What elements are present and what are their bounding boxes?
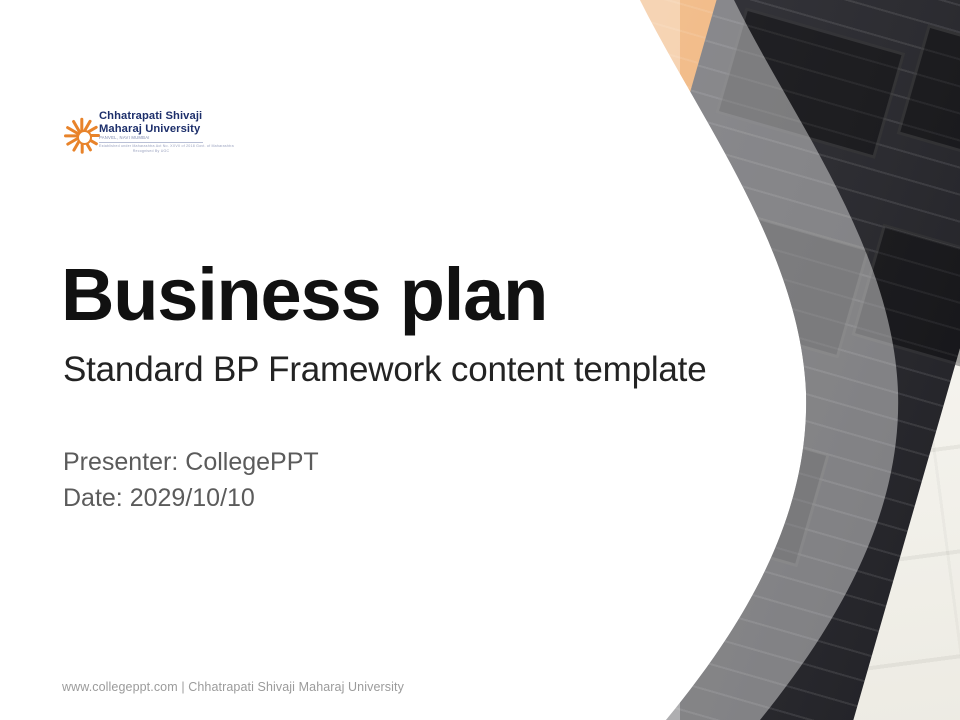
logo-line-1: Chhatrapati Shivaji bbox=[99, 110, 207, 123]
slide-meta: Presenter: CollegePPT Date: 2029/10/10 bbox=[63, 444, 319, 516]
logo-text-block: Chhatrapati Shivaji Maharaj University P… bbox=[99, 110, 207, 154]
logo-line-2: Maharaj University bbox=[99, 123, 207, 136]
logo-subline-1: PANVEL, NAVI MUMBAI bbox=[99, 135, 207, 141]
logo-subline-3: Recognised By UGC bbox=[99, 149, 203, 154]
logo-divider bbox=[99, 142, 203, 143]
slide-footer: www.collegeppt.com | Chhatrapati Shivaji… bbox=[62, 680, 404, 694]
presenter-line: Presenter: CollegePPT bbox=[63, 444, 319, 480]
sunburst-icon bbox=[63, 114, 103, 158]
slide-subtitle: Standard BP Framework content template bbox=[63, 352, 706, 387]
sunburst-core bbox=[77, 130, 92, 145]
presentation-slide: CHHATRAPATI SHIVAJI MAHARAJ UNIVERSITY bbox=[0, 0, 960, 720]
university-logo: Chhatrapati Shivaji Maharaj University P… bbox=[63, 110, 203, 164]
date-line: Date: 2029/10/10 bbox=[63, 480, 319, 516]
slide-title: Business plan bbox=[61, 258, 547, 332]
